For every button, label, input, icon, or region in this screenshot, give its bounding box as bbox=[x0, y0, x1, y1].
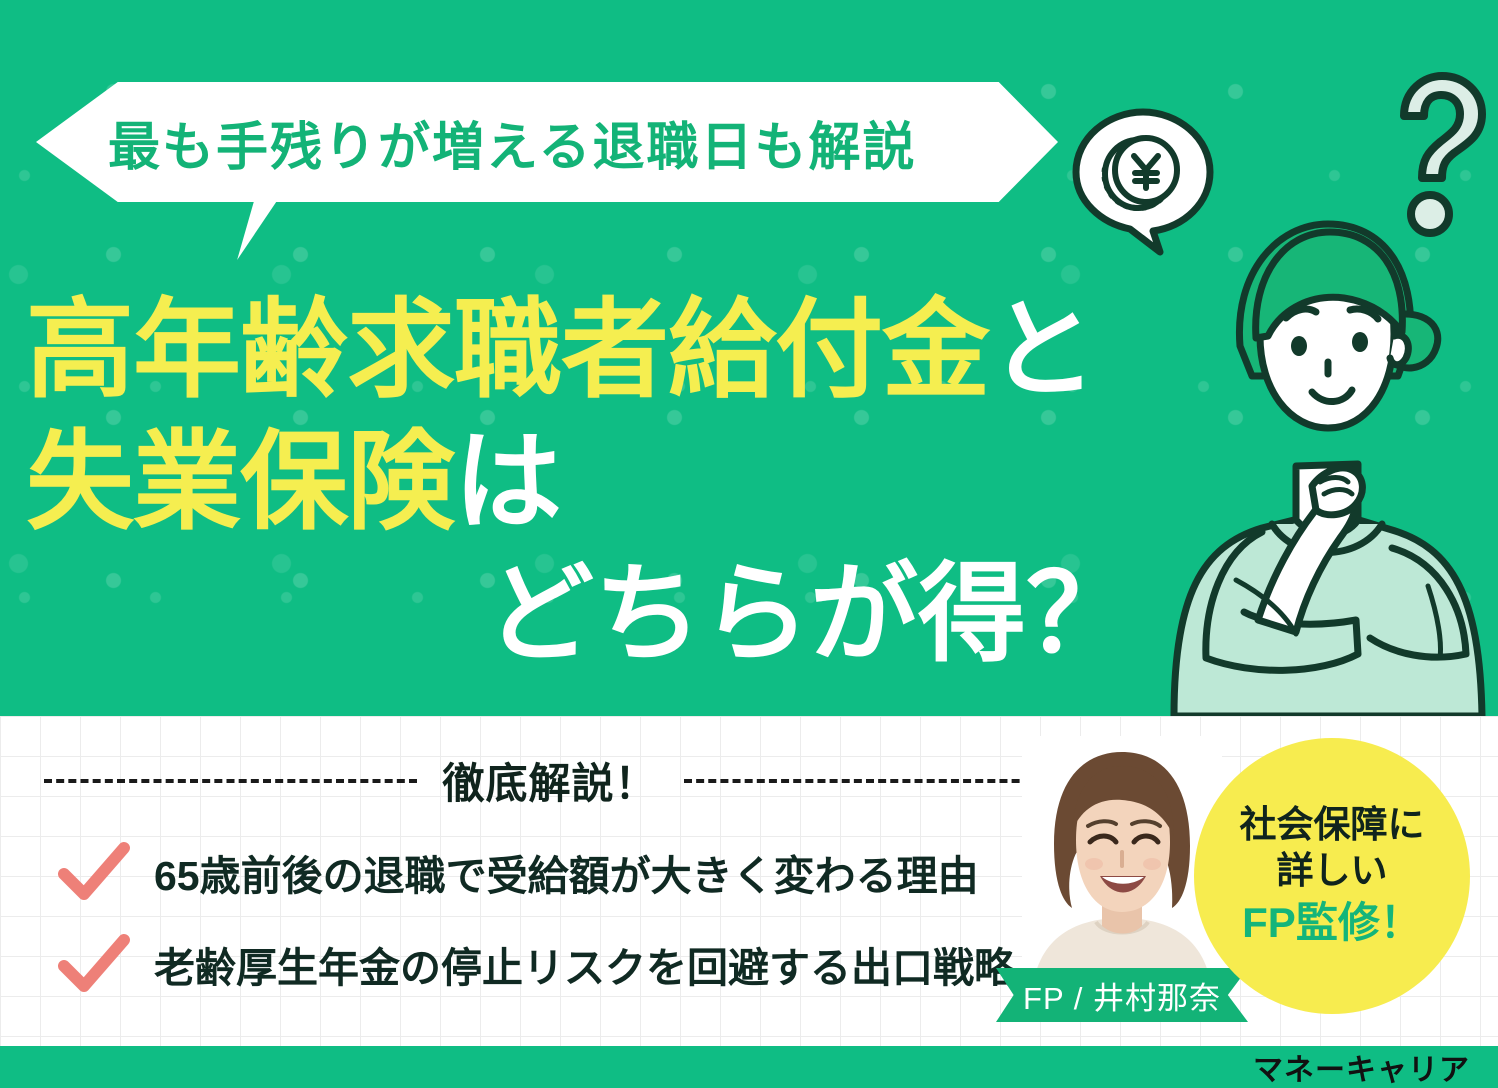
hero-section: 最も手残りが増える退職日も解説 高年齢求職者給付金と bbox=[0, 0, 1498, 716]
badge-line-1: 社会保障に bbox=[1240, 803, 1425, 847]
fp-name-ribbon: FP / 井村那奈 bbox=[996, 968, 1248, 1022]
fp-portrait-photo bbox=[1022, 736, 1222, 994]
headline-block: 高年齢求職者給付金と 失業保険は どちらが得？ bbox=[26, 284, 1206, 679]
fp-supervision-badge: 社会保障に 詳しい FP監修！ bbox=[1194, 738, 1470, 1014]
list-item: 老齢厚生年金の停止リスクを回避する出口戦略 bbox=[56, 918, 1056, 1010]
catchphrase-bubble: 最も手残りが増える退職日も解説 bbox=[36, 82, 1058, 202]
check-icon bbox=[56, 840, 132, 904]
headline-line-2-particle: は bbox=[454, 421, 561, 542]
dashed-rule-left bbox=[44, 779, 417, 783]
headline-line-1: 高年齢求職者給付金と bbox=[26, 284, 1206, 416]
list-item: 65歳前後の退職で受給額が大きく変わる理由 bbox=[56, 826, 1056, 918]
badge-line-3: FP監修！ bbox=[1242, 898, 1422, 948]
headline-line-3: どちらが得？ bbox=[26, 548, 1206, 680]
catchphrase-text: 最も手残りが増える退職日も解説 bbox=[108, 105, 916, 180]
check-icon bbox=[56, 932, 132, 996]
subhead-label: 徹底解説！ bbox=[443, 750, 658, 811]
bullet-text: 65歳前後の退職で受給額が大きく変わる理由 bbox=[154, 842, 979, 902]
bullet-list: 65歳前後の退職で受給額が大きく変わる理由 老齢厚生年金の停止リスクを回避する出… bbox=[56, 826, 1056, 1010]
fp-name-label: FP / 井村那奈 bbox=[1023, 973, 1221, 1018]
banner-root: 最も手残りが増える退職日も解説 高年齢求職者給付金と bbox=[0, 0, 1498, 1088]
headline-line-1-particle: と bbox=[989, 289, 1096, 410]
badge-line-2: 詳しい bbox=[1277, 849, 1388, 893]
dashed-rule-right bbox=[684, 779, 1057, 783]
headline-line-2: 失業保険は bbox=[26, 416, 1206, 548]
headline-line-1-emphasis: 高年齢求職者給付金 bbox=[26, 289, 989, 410]
brand-logo: マネーキャリア bbox=[1253, 1045, 1470, 1088]
catchphrase-bubble-tail bbox=[237, 198, 319, 260]
footer-bar: マネーキャリア bbox=[0, 1046, 1498, 1088]
thinking-woman-illustration bbox=[1144, 176, 1498, 716]
headline-line-2-emphasis: 失業保険 bbox=[26, 421, 454, 542]
bullet-text: 老齢厚生年金の停止リスクを回避する出口戦略 bbox=[154, 934, 1015, 994]
subhead-row: 徹底解説！ bbox=[44, 750, 1056, 811]
